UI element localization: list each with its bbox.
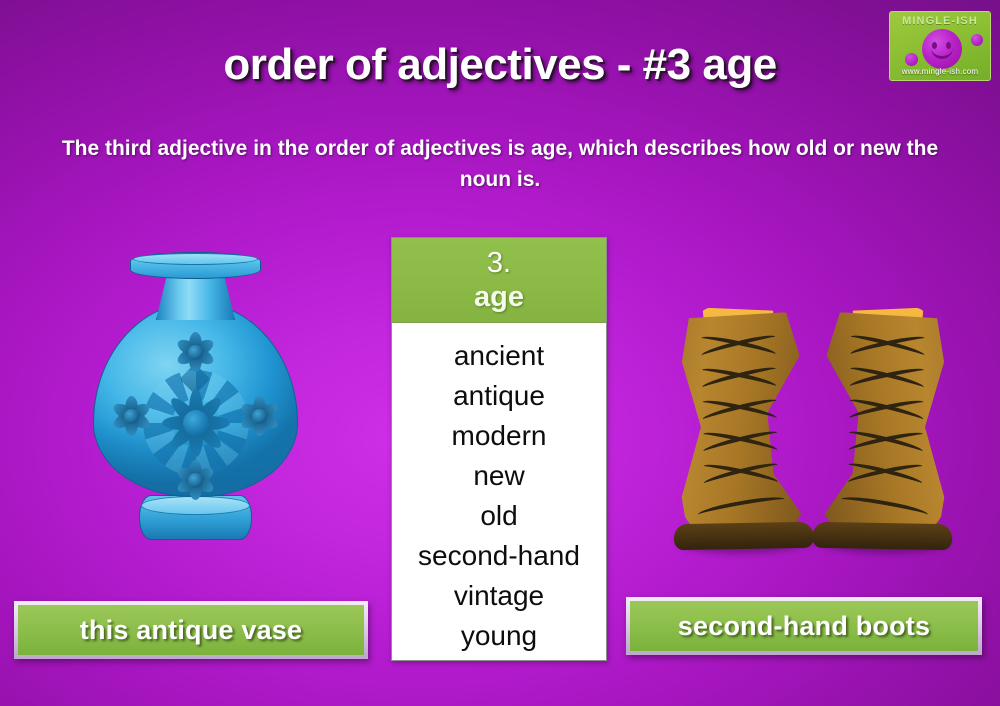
list-item: modern — [396, 416, 602, 456]
card-header: 3. age — [392, 238, 606, 323]
list-item: young — [396, 616, 602, 656]
list-item: old — [396, 496, 602, 536]
second-hand-boots-illustration — [664, 305, 974, 555]
vase-floret-motif-top — [172, 330, 218, 374]
example-label-vase: this antique vase — [14, 601, 368, 659]
vase-floret-motif-right — [236, 394, 282, 438]
list-item: ancient — [396, 336, 602, 376]
vase-rim — [130, 252, 261, 279]
list-item: new — [396, 456, 602, 496]
example-label-vase-text: this antique vase — [80, 615, 302, 646]
list-item: second-hand — [396, 536, 602, 576]
logo-brand-text: MINGLE-ISH — [890, 15, 990, 27]
card-category-label: age — [474, 281, 524, 313]
page-title: order of adjectives - #3 age — [0, 40, 1000, 90]
vase-floret-motif-left — [108, 394, 154, 438]
boot-sole — [674, 522, 814, 550]
rosette-core — [183, 410, 209, 436]
age-category-card: 3. age ancient antique modern new old se… — [391, 237, 607, 661]
list-item: vintage — [396, 576, 602, 616]
boot-left — [670, 304, 814, 556]
slide-canvas: MINGLE-ISH www.mingle-ish.com order of a… — [0, 0, 1000, 706]
age-adjective-list: ancient antique modern new old second-ha… — [392, 323, 606, 656]
boot-sole — [812, 522, 952, 550]
page-subtitle: The third adjective in the order of adje… — [60, 133, 940, 195]
vase-floret-motif-bottom — [172, 458, 218, 502]
example-label-boots: second-hand boots — [626, 597, 982, 655]
boot-right — [812, 304, 956, 556]
list-item: antique — [396, 376, 602, 416]
card-number: 3. — [487, 247, 511, 279]
example-label-boots-text: second-hand boots — [678, 611, 930, 642]
antique-vase-illustration — [88, 250, 303, 550]
